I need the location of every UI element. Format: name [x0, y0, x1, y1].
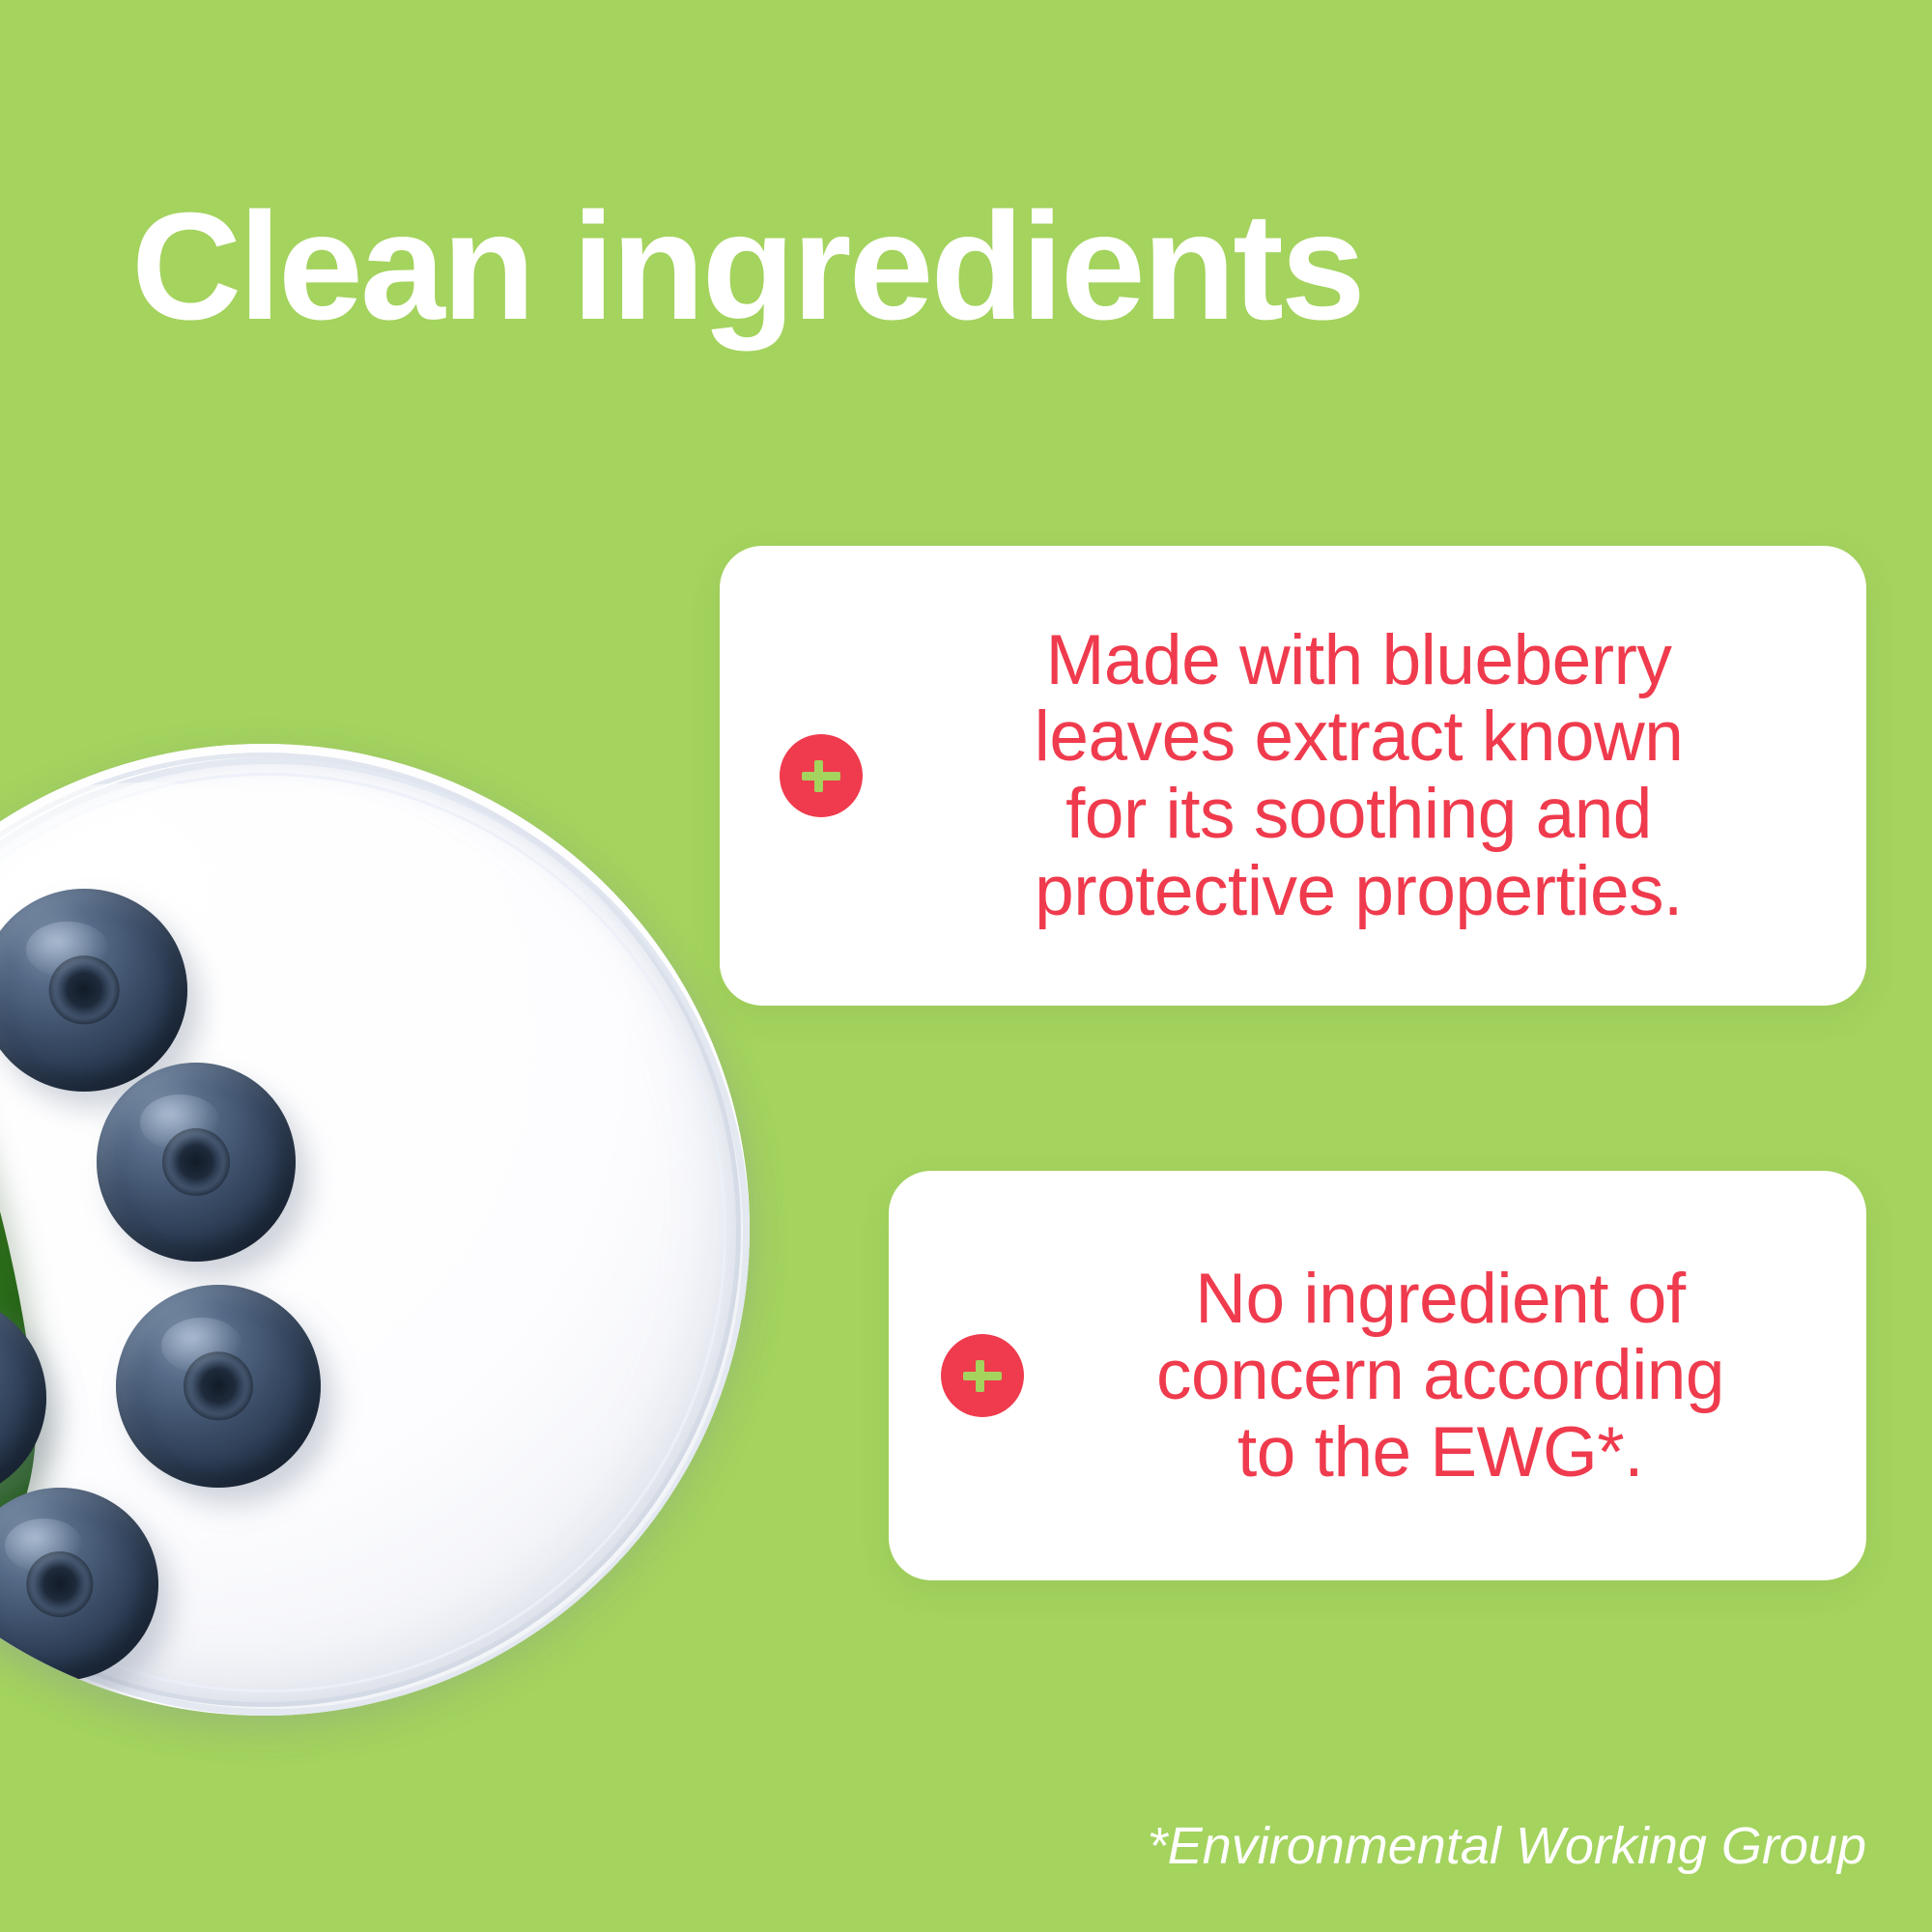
benefit-card-ewg: No ingredient of concern according to th… [889, 1171, 1866, 1580]
blueberry [97, 1063, 296, 1262]
promo-canvas: Clean ingredients Made with blueberry [0, 0, 1932, 1932]
plus-icon [780, 734, 863, 817]
page-title: Clean ingredients [131, 187, 1363, 348]
benefit-card-text: Made with blueberry leaves extract known… [863, 622, 1866, 929]
plus-icon-vertical [976, 1360, 984, 1392]
blueberry [116, 1285, 321, 1488]
benefit-card-text: No ingredient of concern according to th… [1024, 1261, 1866, 1492]
footnote-text: *Environmental Working Group [1148, 1816, 1866, 1876]
plus-icon [941, 1334, 1024, 1417]
plus-icon-vertical [814, 760, 823, 792]
product-photo [0, 744, 763, 1729]
benefit-card-ingredient: Made with blueberry leaves extract known… [720, 546, 1866, 1006]
